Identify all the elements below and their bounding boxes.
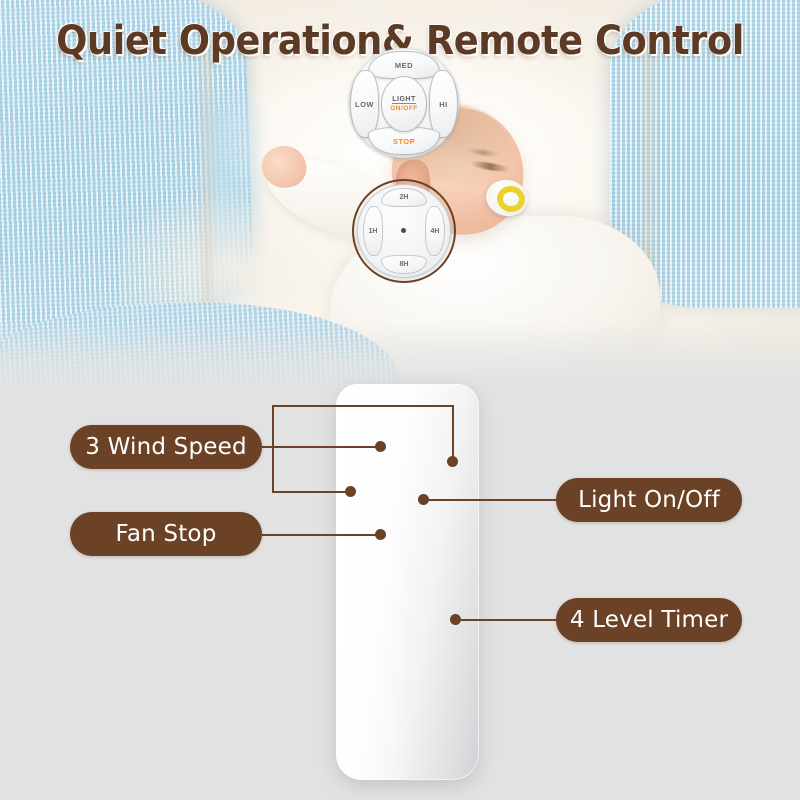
connector-wind-riser [272,405,274,493]
connector-wind-top [272,405,454,407]
button-hi[interactable]: HI [429,70,458,138]
connector-light [424,499,558,501]
connector-hi-drop [452,405,454,462]
onoff-label: ON/OFF [390,105,418,112]
connector-timer [456,619,558,621]
button-light-onoff[interactable]: LIGHT ON/OFF [381,76,427,132]
pillow-fold [200,40,214,340]
button-med[interactable]: MED [368,51,440,79]
connector-dot-stop [375,529,386,540]
connector-dot-low [345,486,356,497]
connector-dot-hi [447,456,458,467]
light-label: LIGHT [392,96,416,105]
product-feature-image: Quiet Operation& Remote Control MED LOW … [0,0,800,800]
callout-light-onoff: Light On/Off [556,478,742,522]
remote-control-body [336,384,479,780]
photo-fade-overlay [0,322,800,392]
button-low[interactable]: LOW [350,70,379,138]
connector-med [272,446,380,448]
callout-level-timer: 4 Level Timer [556,598,742,642]
callout-wind-speed: 3 Wind Speed [70,425,262,469]
callout-fan-stop: Fan Stop [70,512,262,556]
timer-highlight-ring [352,179,456,283]
connector-dot-timer [450,614,461,625]
connector-fanstop [262,534,382,536]
connector-low [272,491,350,493]
connector-dot-med [375,441,386,452]
connector-dot-light [418,494,429,505]
